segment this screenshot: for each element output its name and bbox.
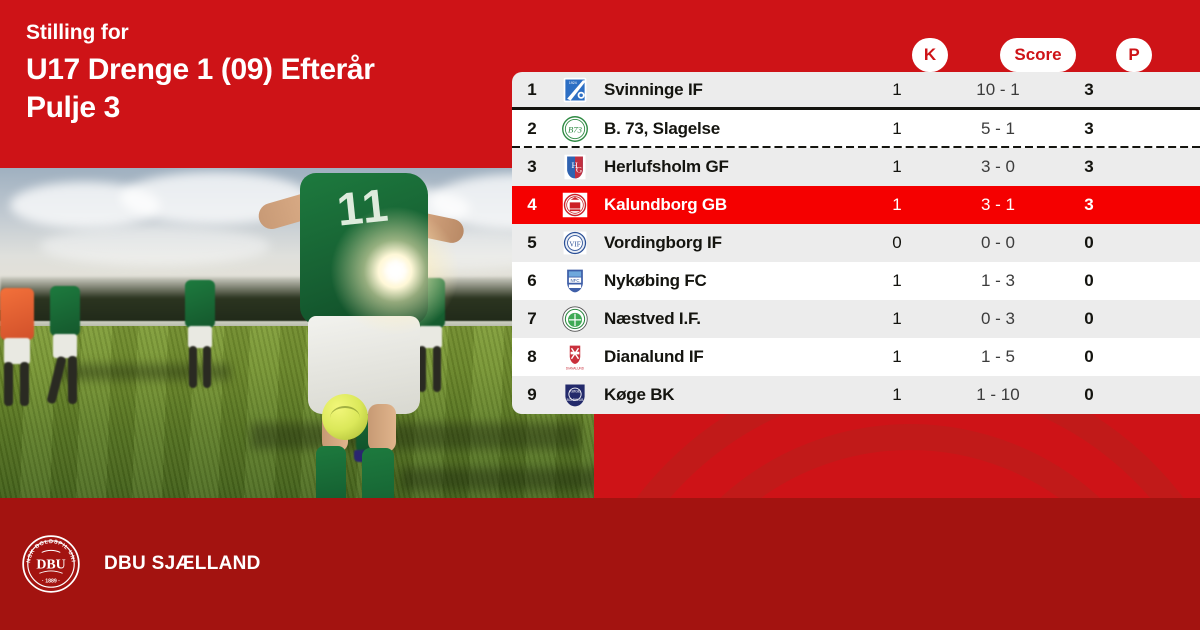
- svinninge-crest: 1924: [552, 76, 598, 104]
- row-position: 7: [512, 309, 552, 329]
- row-score: 1 - 10: [943, 385, 1053, 405]
- row-position: 1: [512, 80, 552, 100]
- player-sock: [316, 446, 346, 498]
- standings-graphic: Stilling for U17 Drenge 1 (09) Efterår P…: [0, 0, 1200, 630]
- row-points: 3: [1053, 80, 1125, 100]
- table-row[interactable]: 2 B73 B. 73, Slagelse 1 5 - 1 3: [512, 110, 1200, 148]
- player-leg: [368, 404, 396, 452]
- row-points: 0: [1053, 347, 1125, 367]
- row-score: 5 - 1: [943, 119, 1053, 139]
- row-position: 5: [512, 233, 552, 253]
- table-row[interactable]: 5 VIF Vordingborg IF 0 0 - 0 0: [512, 224, 1200, 262]
- nykobing-crest: NFC: [552, 267, 598, 295]
- row-points: 3: [1053, 195, 1125, 215]
- row-team-name: Vordingborg IF: [598, 233, 851, 253]
- svg-text:DIANALUND: DIANALUND: [566, 366, 585, 370]
- row-position: 6: [512, 271, 552, 291]
- table-row[interactable]: 3 H G Herlufsholm GF 1 3 - 0 3: [512, 148, 1200, 186]
- svg-text:KØGE: KØGE: [569, 388, 581, 393]
- row-matches: 1: [851, 385, 943, 405]
- kalundborg-crest: [552, 191, 598, 219]
- jersey-number: 11: [334, 177, 392, 236]
- svg-text:1924: 1924: [569, 80, 577, 84]
- row-position: 3: [512, 157, 552, 177]
- row-team-name: Herlufsholm GF: [598, 157, 851, 177]
- page-title-line-2: Pulje 3: [26, 89, 496, 127]
- svg-text:DBU: DBU: [36, 558, 65, 573]
- table-row[interactable]: 9 KØGE BOLDKLUB Køge BK 1 1 - 10 0: [512, 376, 1200, 414]
- table-row[interactable]: 6 NFC Nykøbing FC 1 1 - 3 0: [512, 262, 1200, 300]
- standings-table: 1 1924 Svinninge IF 1 10 - 1 3 2: [512, 72, 1200, 414]
- table-row[interactable]: 1 1924 Svinninge IF 1 10 - 1 3: [512, 72, 1200, 110]
- vordingborg-crest: VIF: [552, 229, 598, 257]
- herlufsholm-crest: H G: [552, 153, 598, 181]
- row-team-name: Nykøbing FC: [598, 271, 851, 291]
- table-row-highlighted[interactable]: 4 Kalundborg GB 1 3 - 1 3: [512, 186, 1200, 224]
- row-position: 4: [512, 195, 552, 215]
- svg-text:· 1889 ·: · 1889 ·: [42, 579, 60, 585]
- row-matches: 1: [851, 119, 943, 139]
- football: [322, 394, 368, 440]
- row-score: 3 - 0: [943, 157, 1053, 177]
- row-position: 8: [512, 347, 552, 367]
- row-position: 9: [512, 385, 552, 405]
- table-header-pills: K Score P: [0, 38, 1200, 74]
- row-points: 3: [1053, 157, 1125, 177]
- naestved-crest: [552, 305, 598, 333]
- row-points: 0: [1053, 385, 1125, 405]
- row-team-name: Køge BK: [598, 385, 851, 405]
- row-matches: 1: [851, 347, 943, 367]
- row-team-name: Kalundborg GB: [598, 195, 851, 215]
- column-header-score[interactable]: Score: [1000, 38, 1076, 72]
- row-points: 0: [1053, 271, 1125, 291]
- row-matches: 1: [851, 80, 943, 100]
- dianalund-crest: DIANALUND: [552, 343, 598, 371]
- row-points: 3: [1053, 119, 1125, 139]
- svg-text:G: G: [576, 164, 583, 174]
- table-row[interactable]: 8 DIANALUND Dianalund IF 1 1 - 5 0: [512, 338, 1200, 376]
- row-matches: 0: [851, 233, 943, 253]
- player-sock: [362, 448, 394, 498]
- row-team-name: B. 73, Slagelse: [598, 119, 851, 139]
- svg-text:B73: B73: [568, 125, 583, 135]
- row-points: 0: [1053, 233, 1125, 253]
- svg-text:NFC: NFC: [571, 278, 580, 283]
- koge-crest: KØGE BOLDKLUB: [552, 381, 598, 409]
- row-team-name: Svinninge IF: [598, 80, 851, 100]
- svg-text:VIF: VIF: [569, 241, 580, 249]
- grass-shadow: [250, 423, 580, 449]
- row-matches: 1: [851, 195, 943, 215]
- row-score: 1 - 5: [943, 347, 1053, 367]
- row-score: 3 - 1: [943, 195, 1053, 215]
- hero-photo: 11: [0, 168, 594, 498]
- row-matches: 1: [851, 271, 943, 291]
- row-points: 0: [1053, 309, 1125, 329]
- grass-shadow: [400, 468, 594, 490]
- footer-label: DBU SJÆLLAND: [104, 553, 261, 575]
- row-matches: 1: [851, 157, 943, 177]
- row-score: 0 - 3: [943, 309, 1053, 329]
- footer-bar: DANSK BOLDSPIL UNION DBU · 1889 · DBU SJ…: [0, 498, 1200, 630]
- table-row[interactable]: 7 Næstved I.F. 1 0 - 3 0: [512, 300, 1200, 338]
- column-header-k[interactable]: K: [912, 38, 948, 72]
- cloud-shape: [40, 226, 270, 266]
- row-team-name: Dianalund IF: [598, 347, 851, 367]
- svg-text:BOLDKLUB: BOLDKLUB: [567, 398, 584, 402]
- row-team-name: Næstved I.F.: [598, 309, 851, 329]
- row-score: 1 - 3: [943, 271, 1053, 291]
- dbu-logo-icon: DANSK BOLDSPIL UNION DBU · 1889 ·: [22, 535, 80, 593]
- row-score: 10 - 1: [943, 80, 1053, 100]
- row-position: 2: [512, 119, 552, 139]
- column-header-p[interactable]: P: [1116, 38, 1152, 72]
- b73-crest: B73: [552, 115, 598, 143]
- row-score: 0 - 0: [943, 233, 1053, 253]
- row-matches: 1: [851, 309, 943, 329]
